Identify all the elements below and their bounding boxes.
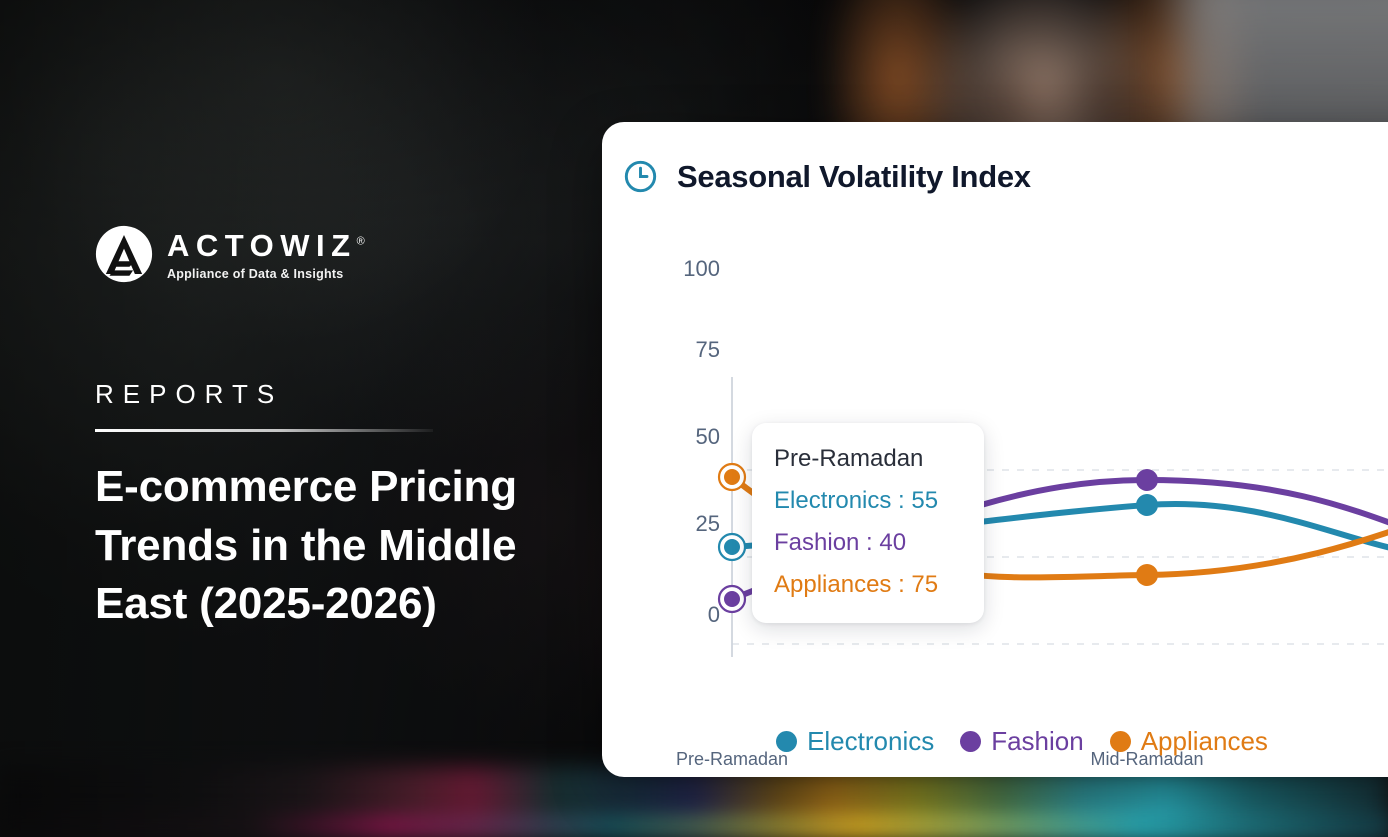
brand-logo: ACTOWIZ® Appliance of Data & Insights [95, 225, 615, 283]
y-tick-75: 75 [696, 337, 732, 363]
legend-item-appliances[interactable]: Appliances [1110, 726, 1268, 757]
actowiz-a-logo-icon [95, 225, 153, 283]
legend-dot-icon-appliances [1110, 731, 1131, 752]
report-kicker: REPORTS [95, 379, 615, 410]
legend-label-fashion: Fashion [991, 726, 1084, 757]
card-title: Seasonal Volatility Index [677, 159, 1031, 195]
y-tick-25: 25 [696, 511, 732, 537]
data-point-electronics-pre [719, 534, 745, 560]
legend-dot-icon-fashion [960, 731, 981, 752]
report-intro-panel: ACTOWIZ® Appliance of Data & Insights RE… [95, 225, 615, 634]
brand-wordmark-group: ACTOWIZ® Appliance of Data & Insights [167, 228, 365, 281]
seasonal-volatility-card: Seasonal Volatility Index [602, 122, 1388, 777]
brand-name: ACTOWIZ® [167, 228, 365, 263]
tooltip-row-fashion: Fashion : 40 [774, 529, 962, 557]
y-tick-50: 50 [696, 424, 732, 450]
line-chart-plot: 100 75 50 25 0 Pre-Ramadan Mid-Ramadan P… [602, 237, 1388, 657]
brand-tagline: Appliance of Data & Insights [167, 267, 365, 281]
legend-item-fashion[interactable]: Fashion [960, 726, 1084, 757]
legend-label-appliances: Appliances [1141, 726, 1268, 757]
page-title: E-commerce Pricing Trends in the Middle … [95, 458, 595, 634]
data-point-appliances-mid[interactable] [1136, 564, 1158, 586]
card-header: Seasonal Volatility Index [602, 122, 1388, 195]
tooltip-row-appliances: Appliances : 75 [774, 571, 962, 599]
data-point-appliances-pre [719, 464, 745, 490]
registered-mark: ® [357, 235, 365, 247]
tooltip-title: Pre-Ramadan [774, 445, 962, 473]
legend-item-electronics[interactable]: Electronics [776, 726, 934, 757]
tooltip-row-electronics: Electronics : 55 [774, 487, 962, 515]
legend-label-electronics: Electronics [807, 726, 934, 757]
poster-canvas: ACTOWIZ® Appliance of Data & Insights RE… [0, 0, 1388, 837]
clock-icon [622, 158, 659, 195]
chart-legend: Electronics Fashion Appliances [602, 726, 1388, 757]
divider-rule [95, 429, 433, 432]
y-tick-0: 0 [708, 602, 732, 628]
chart-tooltip: Pre-Ramadan Electronics : 55 Fashion : 4… [752, 423, 984, 623]
y-tick-100: 100 [683, 256, 732, 282]
data-point-electronics-mid[interactable] [1136, 494, 1158, 516]
legend-dot-icon-electronics [776, 731, 797, 752]
data-point-fashion-mid[interactable] [1136, 469, 1158, 491]
